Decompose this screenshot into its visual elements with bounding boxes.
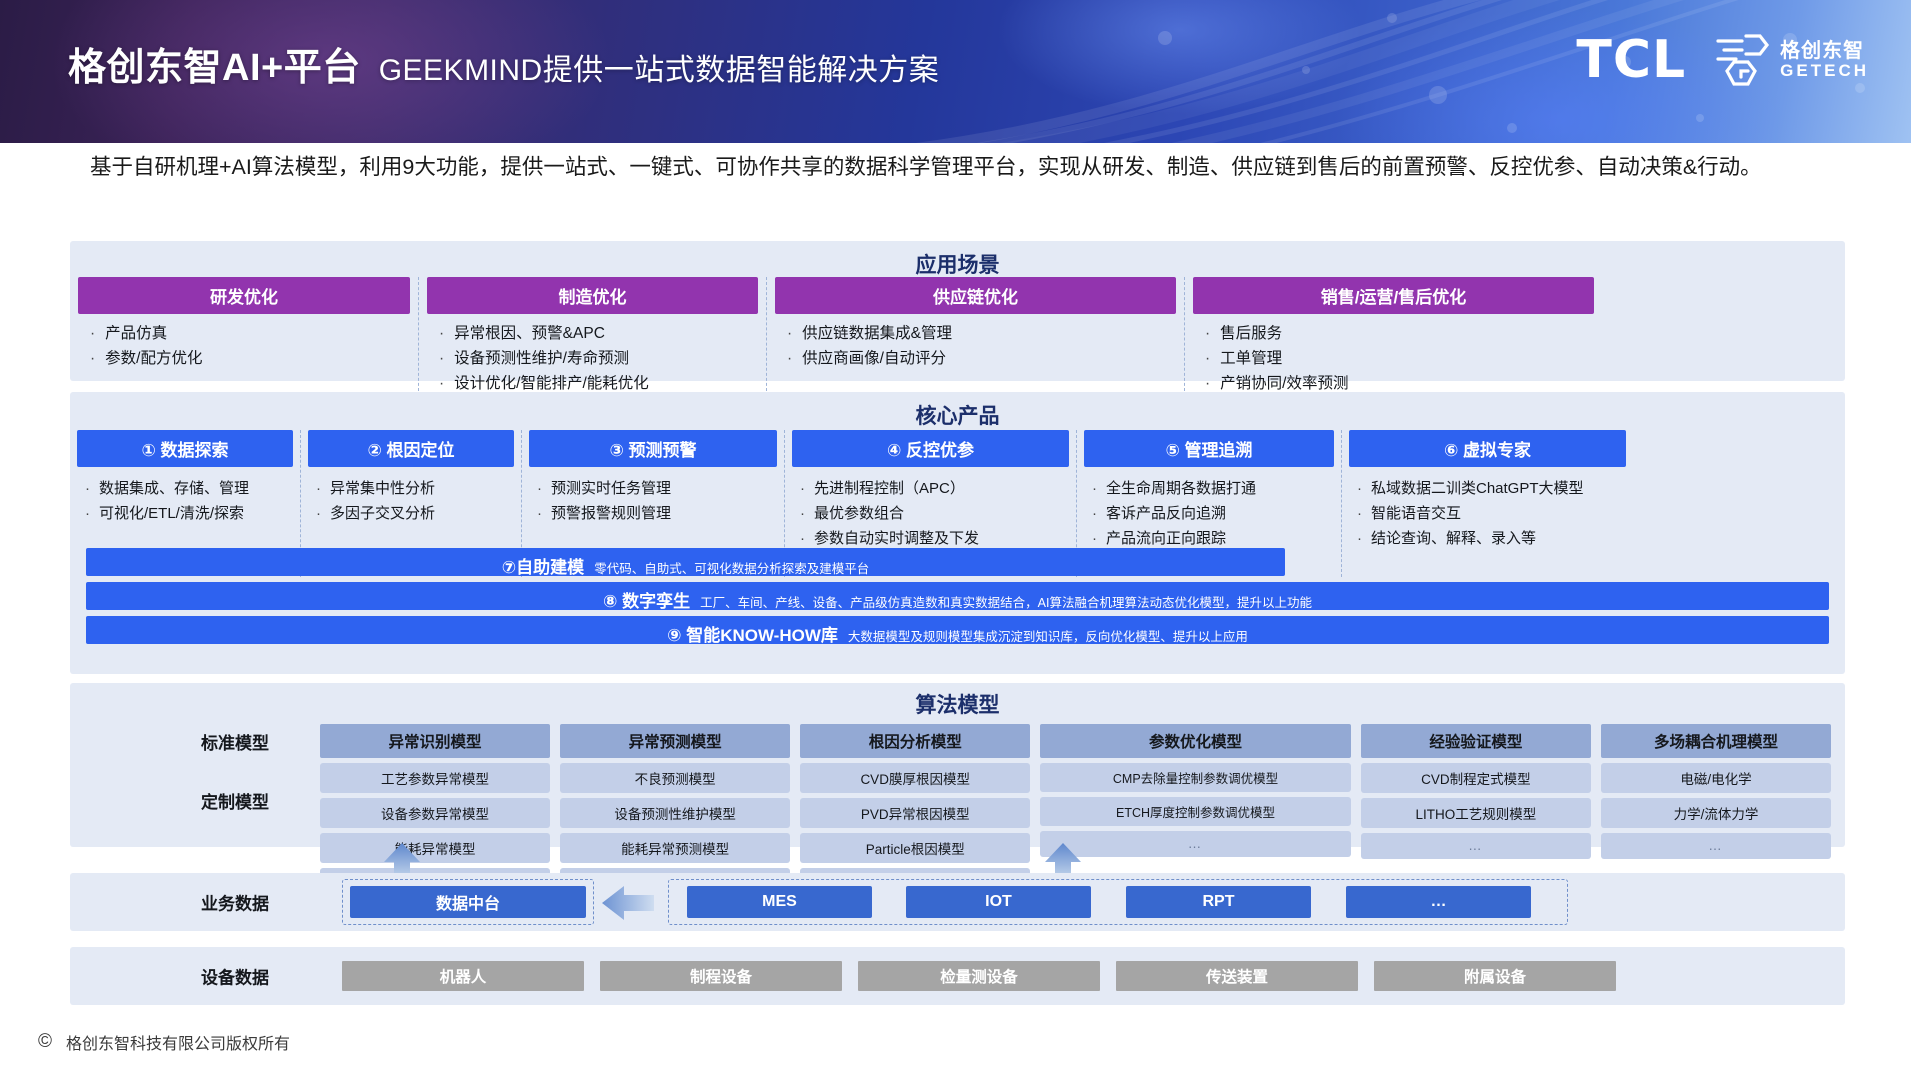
list-item: ·结论查询、解释、录入等	[1357, 526, 1626, 551]
algorithm-column-anomaly-prediction[interactable]: 异常预测模型 不良预测模型 设备预测性维护模型 能耗异常预测模型 …	[560, 724, 790, 894]
algorithm-column-parameter-optimization[interactable]: 参数优化模型 CMP去除量控制参数调优模型 ETCH厚度控制参数调优模型 …	[1040, 724, 1351, 894]
algorithm-cell[interactable]: Particle根因模型	[800, 833, 1030, 863]
scenario-column-sales[interactable]: 销售/运营/售后优化 ·售后服务 ·工单管理 ·产销协同/效率预测	[1184, 277, 1602, 396]
business-chip-mes[interactable]: MES	[687, 886, 872, 918]
business-chip-more[interactable]: …	[1346, 886, 1531, 918]
getech-hexagon-icon	[1712, 32, 1770, 88]
list-item: ·最优参数组合	[800, 501, 1069, 526]
algorithm-head-5[interactable]: 经验验证模型	[1361, 724, 1591, 758]
core-product-list-4: ·先进制程控制（APC） ·最优参数组合 ·参数自动实时调整及下发	[792, 476, 1069, 552]
list-item: ·全生命周期各数据打通	[1092, 476, 1334, 501]
device-chip-process-equipment[interactable]: 制程设备	[600, 961, 842, 991]
core-product-6-virtual-expert[interactable]: ⑥ 虚拟专家 ·私域数据二训类ChatGPT大模型 ·智能语音交互 ·结论查询、…	[1341, 430, 1633, 577]
device-chip-metrology-equipment[interactable]: 检量测设备	[858, 961, 1100, 991]
section-algorithm-models: 算法模型 标准模型 定制模型 异常识别模型 工艺参数异常模型 设备参数异常模型 …	[70, 683, 1845, 847]
algorithm-head-3[interactable]: 根因分析模型	[800, 724, 1030, 758]
core-product-head-5[interactable]: ⑤ 管理追溯	[1084, 430, 1334, 467]
core-product-head-1[interactable]: ① 数据探索	[77, 430, 293, 467]
list-item: ·多因子交叉分析	[316, 501, 514, 526]
list-item: ·产品仿真	[90, 321, 410, 346]
list-item: ·供应链数据集成&管理	[787, 321, 1176, 346]
scenario-column-manufacturing[interactable]: 制造优化 ·异常根因、预警&APC ·设备预测性维护/寿命预测 ·设计优化/智能…	[418, 277, 766, 396]
scenario-head-rnd[interactable]: 研发优化	[78, 277, 410, 314]
up-arrow-icon-left	[382, 843, 422, 877]
algorithm-head-2[interactable]: 异常预测模型	[560, 724, 790, 758]
scenario-column-supplychain[interactable]: 供应链优化 ·供应链数据集成&管理 ·供应商画像/自动评分	[766, 277, 1184, 396]
section-business-data: 业务数据 数据中台 MES IOT RPT …	[70, 873, 1845, 931]
algorithm-cell[interactable]: 能耗异常预测模型	[560, 833, 790, 863]
list-item: ·智能语音交互	[1357, 501, 1626, 526]
core-bar-9-title: ⑨ 智能KNOW-HOW库	[667, 621, 838, 646]
left-arrow-icon	[600, 884, 656, 924]
algorithm-head-6[interactable]: 多场耦合机理模型	[1601, 724, 1831, 758]
copyright-icon: ©	[38, 1031, 52, 1053]
algorithm-cell[interactable]: CVD膜厚根因模型	[800, 763, 1030, 793]
section-core-products: 核心产品 ① 数据探索 ·数据集成、存储、管理 ·可视化/ETL/清洗/探索 ②…	[70, 392, 1845, 674]
section-title-algorithm: 算法模型	[70, 689, 1845, 719]
core-product-list-3: ·预测实时任务管理 ·预警报警规则管理	[529, 476, 777, 526]
device-chip-auxiliary-equipment[interactable]: 附属设备	[1374, 961, 1616, 991]
core-product-head-2[interactable]: ② 根因定位	[308, 430, 514, 467]
scenario-list-sales: ·售后服务 ·工单管理 ·产销协同/效率预测	[1193, 321, 1594, 396]
footer: © 格创东智科技有限公司版权所有	[38, 1030, 290, 1054]
algorithm-column-root-cause[interactable]: 根因分析模型 CVD膜厚根因模型 PVD异常根因模型 Particle根因模型 …	[800, 724, 1030, 894]
getech-logo: 格创东智 GETECH	[1712, 32, 1869, 88]
page-title: 格创东智AI+平台	[68, 36, 361, 91]
core-product-list-1: ·数据集成、存储、管理 ·可视化/ETL/清洗/探索	[77, 476, 293, 526]
list-item: ·售后服务	[1205, 321, 1594, 346]
list-item: ·预测实时任务管理	[537, 476, 777, 501]
scenario-head-manufacturing[interactable]: 制造优化	[427, 277, 758, 314]
intro-paragraph: 基于自研机理+AI算法模型，利用9大功能，提供一站式、一键式、可协作共享的数据科…	[90, 152, 1830, 183]
algorithm-cell[interactable]: 能耗异常模型	[320, 833, 550, 863]
business-chip-rpt[interactable]: RPT	[1126, 886, 1311, 918]
core-bar-9-knowhow-library[interactable]: ⑨ 智能KNOW-HOW库 大数据模型及规则模型集成沉淀到知识库，反向优化模型、…	[86, 616, 1829, 644]
core-product-head-6[interactable]: ⑥ 虚拟专家	[1349, 430, 1626, 467]
core-bar-8-desc: 工厂、车间、产线、设备、产品级仿真造数和真实数据结合，AI算法融合机理算法动态优…	[700, 592, 1312, 611]
scenario-head-sales[interactable]: 销售/运营/售后优化	[1193, 277, 1594, 314]
device-chip-robot[interactable]: 机器人	[342, 961, 584, 991]
tcl-logo: TCL	[1576, 30, 1686, 90]
scenario-column-rnd[interactable]: 研发优化 ·产品仿真 ·参数/配方优化	[70, 277, 418, 396]
algorithm-row-label-custom: 定制模型	[160, 788, 310, 813]
up-arrow-icon-right	[1043, 843, 1083, 877]
list-item: ·数据集成、存储、管理	[85, 476, 293, 501]
section-title-scenarios: 应用场景	[70, 249, 1845, 279]
row-label-business-data: 业务数据	[160, 890, 310, 915]
scenario-list-supplychain: ·供应链数据集成&管理 ·供应商画像/自动评分	[775, 321, 1176, 371]
algorithm-cell-more[interactable]: …	[1040, 831, 1351, 857]
list-item: ·先进制程控制（APC）	[800, 476, 1069, 501]
getech-logo-text: 格创东智 GETECH	[1780, 41, 1869, 80]
list-item: ·客诉产品反向追溯	[1092, 501, 1334, 526]
scenario-columns: 研发优化 ·产品仿真 ·参数/配方优化 制造优化 ·异常根因、预警&APC ·设…	[70, 277, 1845, 396]
list-item: ·参数/配方优化	[90, 346, 410, 371]
algorithm-cell[interactable]: CMP去除量控制参数调优模型	[1040, 763, 1351, 792]
algorithm-cell[interactable]: LITHO工艺规则模型	[1361, 798, 1591, 828]
algorithm-head-1[interactable]: 异常识别模型	[320, 724, 550, 758]
algorithm-cell[interactable]: 电磁/电化学	[1601, 763, 1831, 793]
core-product-list-6: ·私域数据二训类ChatGPT大模型 ·智能语音交互 ·结论查询、解释、录入等	[1349, 476, 1626, 552]
algorithm-head-4[interactable]: 参数优化模型	[1040, 724, 1351, 758]
algorithm-cell[interactable]: 设备参数异常模型	[320, 798, 550, 828]
list-item: ·可视化/ETL/清洗/探索	[85, 501, 293, 526]
core-bar-7-title: ⑦自助建模	[502, 553, 584, 578]
scenario-list-manufacturing: ·异常根因、预警&APC ·设备预测性维护/寿命预测 ·设计优化/智能排产/能耗…	[427, 321, 758, 396]
core-bar-8-title: ⑧ 数字孪生	[603, 587, 690, 612]
algorithm-cell[interactable]: 工艺参数异常模型	[320, 763, 550, 793]
scenario-head-supplychain[interactable]: 供应链优化	[775, 277, 1176, 314]
core-bar-8-digital-twin[interactable]: ⑧ 数字孪生 工厂、车间、产线、设备、产品级仿真造数和真实数据结合，AI算法融合…	[86, 582, 1829, 610]
section-device-data: 设备数据 机器人 制程设备 检量测设备 传送装置 附属设备	[70, 947, 1845, 1005]
header-logo-group: TCL 格创东智 GETECH	[1576, 30, 1869, 90]
algorithm-column-experience-validation[interactable]: 经验验证模型 CVD制程定式模型 LITHO工艺规则模型 …	[1361, 724, 1591, 894]
list-item: ·异常根因、预警&APC	[439, 321, 758, 346]
list-item: ·供应商画像/自动评分	[787, 346, 1176, 371]
footer-text: 格创东智科技有限公司版权所有	[66, 1030, 290, 1054]
getech-logo-cn: 格创东智	[1780, 41, 1869, 62]
core-product-list-2: ·异常集中性分析 ·多因子交叉分析	[308, 476, 514, 526]
algorithm-cell[interactable]: 力学/流体力学	[1601, 798, 1831, 828]
list-item: ·设备预测性维护/寿命预测	[439, 346, 758, 371]
core-bar-9-desc: 大数据模型及规则模型集成沉淀到知识库，反向优化模型、提升以上应用	[848, 626, 1248, 645]
page-header: 格创东智AI+平台 GEEKMIND提供一站式数据智能解决方案 TCL	[0, 0, 1911, 143]
algorithm-column-anomaly-detection[interactable]: 异常识别模型 工艺参数异常模型 设备参数异常模型 能耗异常模型 …	[320, 724, 550, 894]
algorithm-cell[interactable]: ETCH厚度控制参数调优模型	[1040, 797, 1351, 826]
list-item: ·预警报警规则管理	[537, 501, 777, 526]
getech-logo-en: GETECH	[1780, 62, 1869, 80]
algorithm-cell[interactable]: 设备预测性维护模型	[560, 798, 790, 828]
core-product-head-3[interactable]: ③ 预测预警	[529, 430, 777, 467]
list-item: ·工单管理	[1205, 346, 1594, 371]
list-item: ·异常集中性分析	[316, 476, 514, 501]
section-application-scenarios: 应用场景 研发优化 ·产品仿真 ·参数/配方优化 制造优化 ·异常根因、预警&A…	[70, 241, 1845, 381]
row-label-device-data: 设备数据	[160, 964, 310, 989]
algorithm-cell-more[interactable]: …	[1361, 833, 1591, 859]
core-bar-7-self-modeling[interactable]: ⑦自助建模 零代码、自助式、可视化数据分析探索及建模平台	[86, 548, 1285, 576]
core-bar-7-desc: 零代码、自助式、可视化数据分析探索及建模平台	[594, 558, 869, 577]
algorithm-column-multiphysics[interactable]: 多场耦合机理模型 电磁/电化学 力学/流体力学 …	[1601, 724, 1831, 894]
core-product-head-4[interactable]: ④ 反控优参	[792, 430, 1069, 467]
list-item: ·私域数据二训类ChatGPT大模型	[1357, 476, 1626, 501]
algorithm-row-label-standard: 标准模型	[160, 729, 310, 754]
page-subtitle: GEEKMIND提供一站式数据智能解决方案	[379, 45, 940, 89]
header-title-block: 格创东智AI+平台 GEEKMIND提供一站式数据智能解决方案	[68, 36, 939, 91]
algorithm-cell[interactable]: CVD制程定式模型	[1361, 763, 1591, 793]
device-chip-transport-equipment[interactable]: 传送装置	[1116, 961, 1358, 991]
section-title-core-products: 核心产品	[70, 400, 1845, 430]
algorithm-cell[interactable]: PVD异常根因模型	[800, 798, 1030, 828]
algorithm-cell-more[interactable]: …	[1601, 833, 1831, 859]
algorithm-cell[interactable]: 不良预测模型	[560, 763, 790, 793]
scenario-list-rnd: ·产品仿真 ·参数/配方优化	[78, 321, 410, 371]
business-chip-iot[interactable]: IOT	[906, 886, 1091, 918]
business-chip-data-platform[interactable]: 数据中台	[350, 886, 586, 918]
slide-page: 格创东智AI+平台 GEEKMIND提供一站式数据智能解决方案 TCL	[0, 0, 1911, 1075]
